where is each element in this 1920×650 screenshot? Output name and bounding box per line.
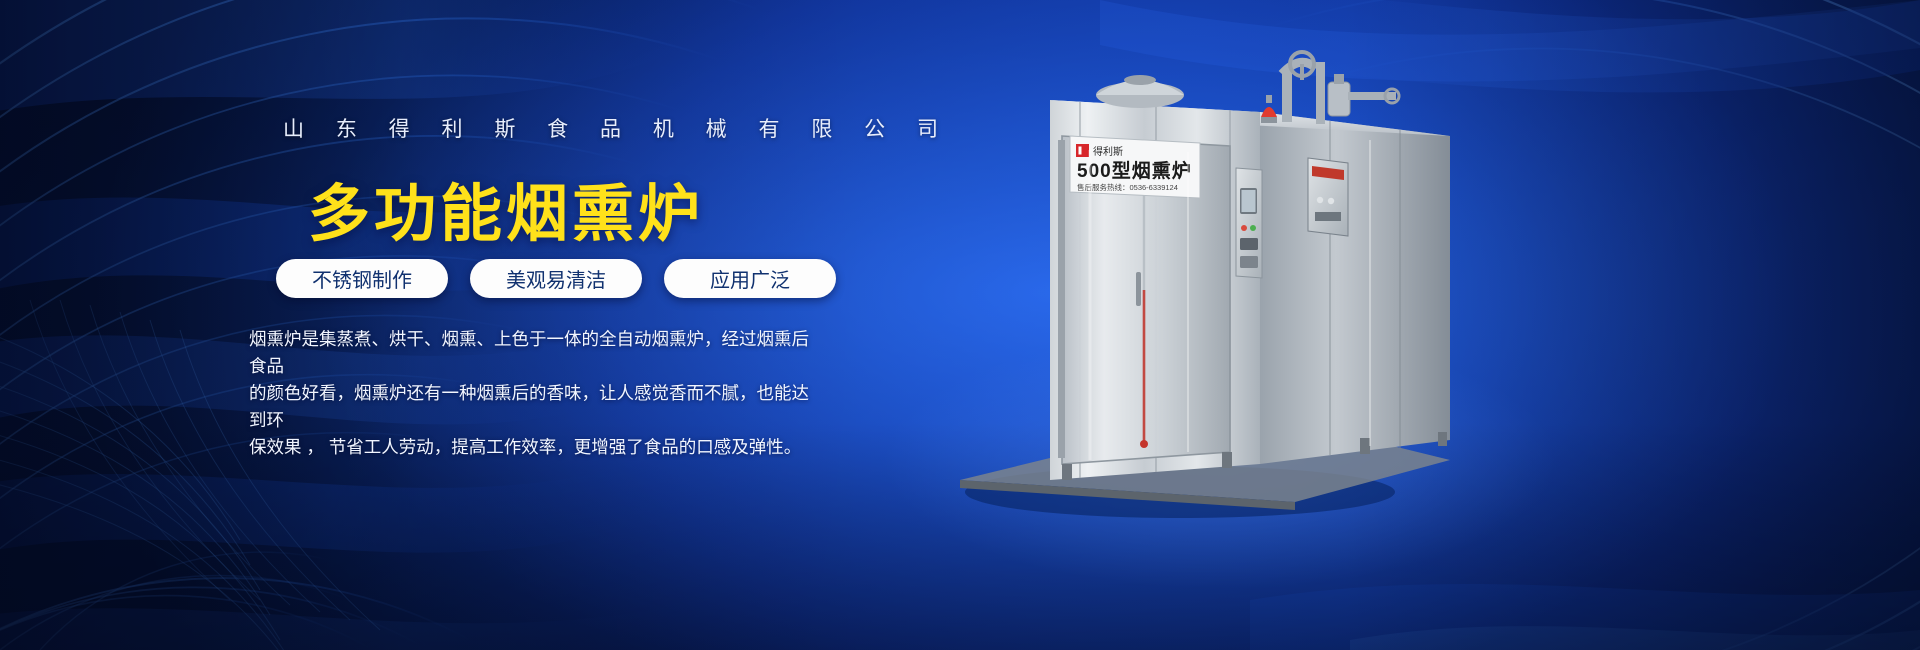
description-line-3: 保效果 ， 节省工人劳动，提高工作效率，更增强了食品的口感及弹性。 [249,434,809,461]
electrical-box [1308,158,1348,236]
company-name: 山 东 得 利 斯 食 品 机 械 有 限 公 司 [283,113,951,143]
alarm-beacon [1261,95,1277,123]
product-photo: 得利斯 500型烟熏炉 售后服务热线：0536-6339124 [930,40,1490,540]
svg-text:500型烟熏炉: 500型烟熏炉 [1077,159,1192,182]
description-line-1: 烟熏炉是集蒸煮、烘干、烟熏、上色于一体的全自动烟熏炉，经过烟熏后食品 [249,326,809,380]
feature-pill-easy-clean[interactable]: 美观易清洁 [470,259,642,298]
page-title: 多功能烟熏炉 [308,163,704,253]
control-panel [1236,168,1262,278]
smokehouse-oven-illustration: 得利斯 500型烟熏炉 售后服务热线：0536-6339124 [930,40,1490,540]
svg-text:售后服务热线：0536-6339124: 售后服务热线：0536-6339124 [1077,182,1178,192]
product-description: 烟熏炉是集蒸煮、烘干、烟熏、上色于一体的全自动烟熏炉，经过烟熏后食品 的颜色好看… [249,326,809,461]
description-line-2: 的颜色好看，烟熏炉还有一种烟熏后的香味，让人感觉香而不腻，也能达到环 [249,380,809,434]
feature-pill-wide-application[interactable]: 应用广泛 [664,259,836,298]
banner-content: 山 东 得 利 斯 食 品 机 械 有 限 公 司 多功能烟熏炉 不锈钢制作 美… [0,0,880,650]
product-banner: 得利斯 500型烟熏炉 售后服务热线：0536-6339124 [0,0,1920,650]
feature-pill-stainless-steel[interactable]: 不锈钢制作 [276,259,448,298]
feature-pill-list: 不锈钢制作 美观易清洁 应用广泛 [276,259,836,298]
svg-text:得利斯: 得利斯 [1093,145,1123,158]
